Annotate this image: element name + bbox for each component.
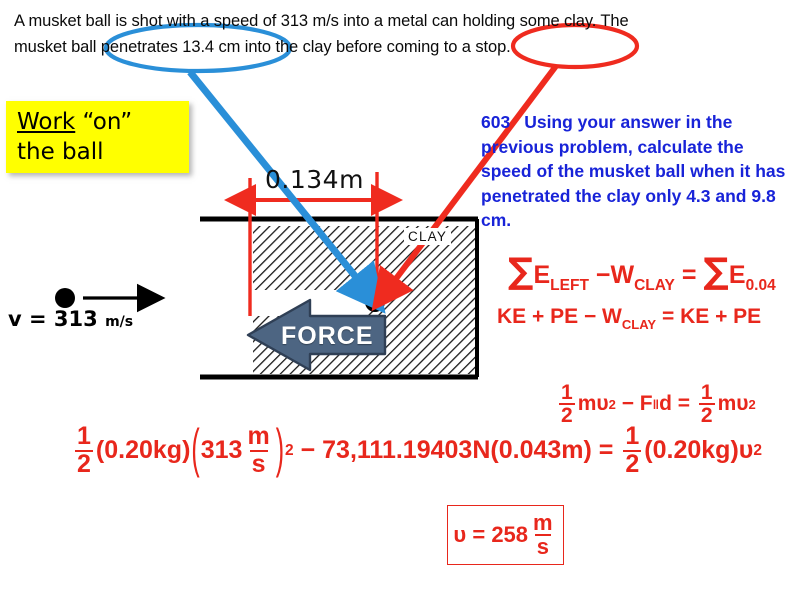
eq3-sq: 2: [609, 397, 616, 412]
paren-close-2: ): [730, 436, 738, 465]
main-mass: 0.20kg: [104, 436, 182, 465]
problem-line-1: A musket ball is shot with a speed of 31…: [14, 8, 789, 34]
e-left-sub: LEFT: [550, 277, 589, 294]
w-clay: W: [610, 261, 634, 289]
answer-v: υ: [453, 522, 466, 548]
work-callout-box: Work “on” the ball: [6, 101, 189, 173]
diagram-canvas: [0, 0, 800, 600]
equation-work-energy: 1 2 mυ2 − F‖d = 1 2 mυ2: [556, 382, 756, 427]
answer-box: υ = 258 m s: [447, 505, 564, 565]
speed-unit-den: s: [250, 450, 268, 478]
answer-unit-den: s: [535, 534, 551, 558]
eq3-f: F: [640, 392, 653, 416]
paren-open-2: (: [644, 436, 652, 465]
ball-channel: [253, 290, 368, 316]
problem-statement: A musket ball is shot with a speed of 31…: [14, 8, 789, 60]
velocity-unit: m/s: [105, 314, 133, 330]
musket-ball-in-clay: [365, 292, 385, 312]
frac3-num: 1: [559, 382, 575, 403]
sigma-2: ∑: [703, 251, 728, 292]
fraction-half-3b: 1 2: [699, 382, 715, 427]
callout-underlined-word: Work: [17, 109, 75, 135]
equation-ke-pe: KE + PE − WCLAY = KE + PE: [497, 305, 761, 332]
eq2-rhs: = KE + PE: [662, 305, 761, 328]
eq3-mv: mυ: [578, 392, 609, 416]
e-right-sub: 0.04: [746, 277, 776, 294]
question-text: Using your answer in the previous proble…: [481, 112, 785, 230]
eq3-mv2: mυ: [718, 392, 749, 416]
musket-ball-free: [55, 288, 75, 308]
sigma-1: ∑: [508, 251, 533, 292]
eq3-equals: =: [678, 392, 690, 416]
equation-main-substitution: 1 2 (0.20kg) ( 313 m s )2 − 73,111.19403…: [72, 424, 762, 477]
clay-label: CLAY: [404, 228, 451, 245]
force-label: FORCE: [281, 322, 374, 351]
answer-unit-num: m: [531, 512, 555, 534]
main-speed: 313: [201, 436, 243, 465]
fraction-half-3: 1 2: [559, 382, 575, 427]
main-minus: −: [301, 436, 316, 465]
callout-line-1: Work “on”: [17, 109, 132, 135]
w-clay-sub: CLAY: [634, 277, 675, 294]
answer-equals: =: [472, 522, 485, 548]
velocity-label: v = 313 m/s: [8, 307, 133, 331]
e-left: E: [533, 261, 550, 289]
main-frac-den: 2: [75, 450, 93, 478]
velocity-value: v = 313: [8, 307, 98, 331]
eq3-sq2: 2: [748, 397, 755, 412]
big-paren-close: ): [276, 419, 284, 481]
equals-1: =: [682, 261, 697, 289]
answer-equation: υ = 258 m s: [453, 512, 557, 559]
eq3-d: d: [659, 392, 672, 416]
fraction-half-main: 1 2: [75, 424, 93, 477]
callout-line-2: the ball: [17, 139, 104, 165]
main-v-exp: 2: [753, 442, 762, 460]
eq2-lhs: KE + PE − W: [497, 305, 622, 328]
answer-unit-fraction: m s: [531, 512, 555, 559]
question-number: 603: [481, 112, 510, 132]
minus-1: −: [596, 261, 611, 289]
main-distance: (0.043m): [490, 436, 591, 465]
main-force: 73,111.19403N: [322, 436, 490, 465]
main-mass-2: 0.20kg: [653, 436, 731, 465]
frac3b-num: 1: [699, 382, 715, 403]
fraction-speed-unit: m s: [245, 424, 271, 477]
problem-line-2: musket ball penetrates 13.4 cm into the …: [14, 34, 789, 60]
callout-line-1-rest: “on”: [75, 109, 132, 135]
e-right: E: [729, 261, 746, 289]
clay-region: [253, 226, 477, 374]
fraction-half-main-2: 1 2: [623, 424, 641, 477]
main-frac2-num: 1: [623, 424, 641, 450]
eq3-minus: −: [622, 392, 634, 416]
dimension-label: 0.134m: [265, 165, 364, 194]
annotation-canvas: [0, 0, 800, 600]
paren-close-1: ): [182, 436, 190, 465]
speed-unit-num: m: [245, 424, 271, 450]
paren-open-1: (: [96, 436, 104, 465]
main-exp: 2: [285, 442, 294, 460]
main-equals: =: [599, 436, 614, 465]
equation-energy-conservation: ∑ELEFT −WCLAY = ∑E0.04: [508, 258, 776, 295]
main-v: υ: [739, 436, 754, 465]
main-frac2-den: 2: [623, 450, 641, 478]
question-block: 603Using your answer in the previous pro…: [481, 110, 793, 233]
eq2-sub: CLAY: [622, 317, 656, 332]
answer-value: 258: [491, 522, 528, 548]
main-frac-num: 1: [75, 424, 93, 450]
big-paren-open: (: [191, 419, 199, 481]
